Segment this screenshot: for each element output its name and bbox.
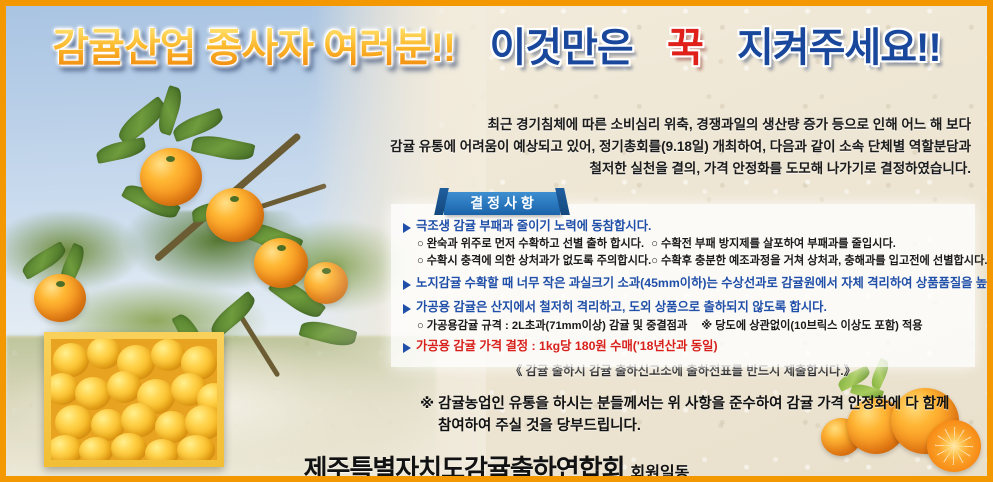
decision-item-1-text: 극조생 감귤 부패과 줄이기 노력에 동참합시다. [416, 218, 651, 235]
sub-line: ○수확후 충분한 예조과정을 거쳐 상처과, 충해과를 입고전에 선별합시다. [651, 253, 987, 270]
signature: 제주특별자치도감귤출하연합회회원일동 [6, 449, 987, 482]
decision-item-4-text: 가공용 감귤 가격 결정 : 1kg당 180원 수매('18년산과 동일) [416, 338, 718, 355]
decision-item-1-subs-right: ○수확전 부패 방지제를 살포하여 부패과를 줄입시다. ○수확후 충분한 예조… [651, 236, 987, 269]
sub-line-text: 수확전 부패 방지제를 살포하여 부패과를 줄입시다. [661, 238, 896, 250]
intro-line-3: 철저한 실천을 결의, 가격 안정화를 도모해 나가기로 결정하였습니다. [289, 158, 971, 180]
tangerine-crate-photo [44, 332, 224, 467]
headline-part2: 이것만은 [489, 28, 632, 68]
decision-item-1-subs-left: ○완숙과 위주로 먼저 수확하고 선별 출하 합시다. ○수확시 충격에 의한 … [417, 236, 651, 269]
headline-part4: 지켜주세요!! [737, 28, 941, 68]
circle-bullet-icon: ○ [417, 255, 424, 267]
decision-item-2: 노지감귤 수확할 때 너무 작은 과실크기 소과(45mm이하)는 수상선과로 … [401, 275, 965, 292]
crate-photo-inner [51, 339, 217, 460]
sub-line: ○완숙과 위주로 먼저 수확하고 선별 출하 합시다. [417, 236, 651, 253]
headline-part1: 감귤산업 종사자 여러분!! [52, 28, 455, 68]
intro-line-2: 감귤 유통에 어려움이 예상되고 있어, 정기총회를(9.18일) 개최하여, … [289, 136, 971, 158]
triangle-bullet-icon [403, 280, 411, 290]
headline-part3: 꾹 [667, 28, 703, 68]
signature-organization: 제주특별자치도감귤출하연합회 [304, 454, 625, 482]
sub-line: ○수확전 부패 방지제를 살포하여 부패과를 줄입시다. [651, 236, 987, 253]
circle-bullet-icon: ○ [417, 320, 424, 332]
decision-item-3-sub-note: ※ 당도에 상관없이(10브릭스 이상도 포함) 적용 [701, 320, 922, 332]
circle-bullet-icon: ○ [651, 255, 658, 267]
decision-item-3-sub-text: 가공용감귤 규격 : 2L초과(71mm이상) 감귤 및 중결점과 [427, 320, 688, 332]
signature-members: 회원일동 [631, 465, 690, 482]
decision-item-3-text: 가공용 감귤은 산지에서 철저히 격리하고, 도외 상품으로 출하되지 않도록 … [416, 299, 827, 316]
decision-item-4: 가공용 감귤 가격 결정 : 1kg당 180원 수매('18년산과 동일) [401, 338, 965, 355]
decision-panel: 극조생 감귤 부패과 줄이기 노력에 동참합시다. ○완숙과 위주로 먼저 수확… [391, 204, 975, 367]
sub-line: ○수확시 충격에 의한 상처과가 없도록 주의합시다. [417, 253, 651, 270]
decision-item-2-text: 노지감귤 수확할 때 너무 작은 과실크기 소과(45mm이하)는 수상선과로 … [416, 275, 993, 292]
decision-item-3: 가공용 감귤은 산지에서 철저히 격리하고, 도외 상품으로 출하되지 않도록 … [401, 299, 965, 316]
decision-item-1: 극조생 감귤 부패과 줄이기 노력에 동참합시다. [401, 218, 965, 235]
sub-line-text: 완숙과 위주로 먼저 수확하고 선별 출하 합시다. [427, 238, 644, 250]
sub-line-text: 수확후 충분한 예조과정을 거쳐 상처과, 충해과를 입고전에 선별합시다. [661, 255, 987, 267]
sub-line-text: 수확시 충격에 의한 상처과가 없도록 주의합시다. [427, 255, 652, 267]
footer-note-line-1: ※ 감귤농업인 유통을 하시는 분들께서는 위 사항을 준수하여 감귤 가격 안… [420, 394, 980, 416]
headline: 감귤산업 종사자 여러분!! 이것만은 꾹 지켜주세요!! [6, 28, 987, 68]
decision-item-3-sub: ○가공용감귤 규격 : 2L초과(71mm이상) 감귤 및 중결점과※ 당도에 … [417, 318, 965, 335]
triangle-bullet-icon [403, 304, 411, 314]
circle-bullet-icon: ○ [651, 238, 658, 250]
panel-title-banner: 결정사항 [444, 192, 560, 215]
circle-bullet-icon: ○ [417, 238, 424, 250]
intro-paragraph: 최근 경기침체에 따른 소비심리 위축, 경쟁과일의 생산량 증가 등으로 인해… [289, 114, 971, 180]
triangle-bullet-icon [403, 343, 411, 353]
footer-note: ※ 감귤농업인 유통을 하시는 분들께서는 위 사항을 준수하여 감귤 가격 안… [420, 394, 980, 438]
poster-root: 감귤산업 종사자 여러분!! 이것만은 꾹 지켜주세요!! 최근 경기침체에 따… [0, 0, 993, 482]
decision-item-1-subs: ○완숙과 위주로 먼저 수확하고 선별 출하 합시다. ○수확시 충격에 의한 … [417, 236, 965, 269]
intro-line-1: 최근 경기침체에 따른 소비심리 위축, 경쟁과일의 생산량 증가 등으로 인해… [289, 114, 971, 136]
triangle-bullet-icon [403, 223, 411, 233]
footer-note-line-2: 참여하여 주실 것을 당부드립니다. [438, 416, 980, 438]
